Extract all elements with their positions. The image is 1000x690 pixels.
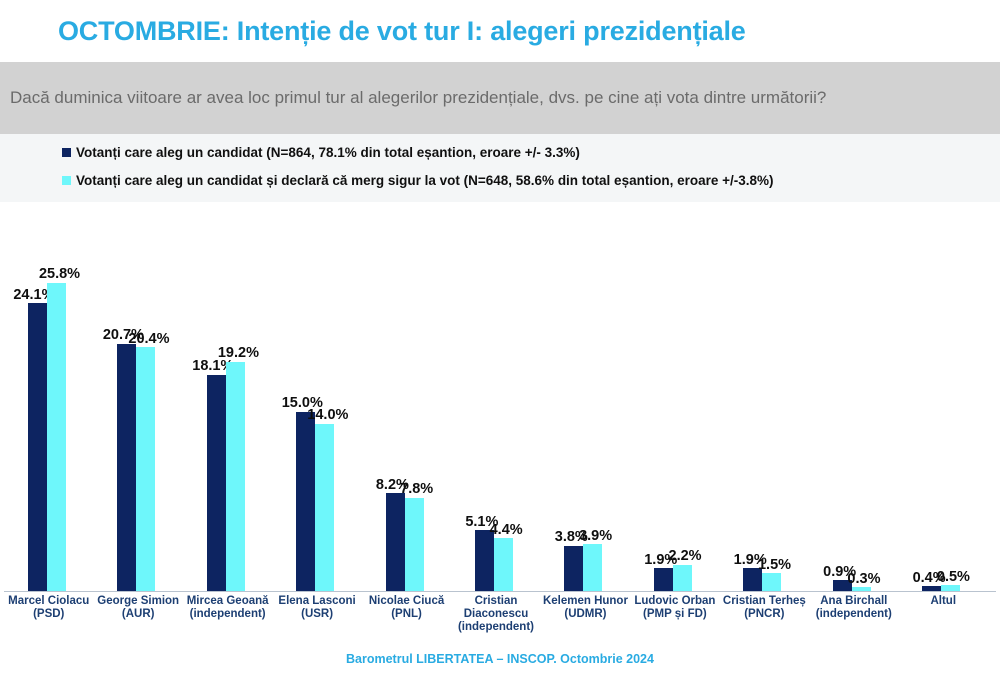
bar[interactable]: [226, 362, 245, 591]
legend-swatch-icon: [62, 176, 71, 185]
chart-legend: Votanți care aleg un candidat (N=864, 78…: [0, 134, 1000, 202]
bar-item[interactable]: 5.1%: [475, 530, 494, 591]
bar-item[interactable]: 2.2%: [673, 565, 692, 591]
bar[interactable]: [673, 565, 692, 591]
bar-item[interactable]: 7.8%: [405, 498, 424, 591]
x-axis-label: Marcel Ciolacu(PSD): [4, 595, 93, 621]
candidate-party: (AUR): [93, 608, 182, 621]
candidate-name: Altul: [930, 595, 956, 607]
bar-item[interactable]: 1.5%: [762, 573, 781, 591]
x-axis-label: Ludovic Orban(PMP și FD): [630, 595, 719, 621]
bar-group: 18.1%19.2%: [207, 362, 245, 591]
chart-footer: Barometrul LIBERTATEA – INSCOP. Octombri…: [0, 648, 1000, 690]
legend-item-series-1: Votanți care aleg un candidat (N=864, 78…: [0, 138, 1000, 166]
candidate-party: (independent): [183, 608, 272, 621]
bar-value-label: 0.5%: [937, 570, 970, 585]
candidate-party: (PNCR): [720, 608, 809, 621]
bars-container: 24.1%25.8%20.7%20.4%18.1%19.2%15.0%14.0%…: [0, 202, 1000, 592]
candidate-party: (PMP și FD): [630, 608, 719, 621]
bar[interactable]: [315, 424, 334, 591]
candidate-party: (independent): [809, 608, 898, 621]
x-axis-label: Altul: [899, 595, 988, 608]
bar[interactable]: [47, 283, 66, 591]
bar[interactable]: [494, 538, 513, 591]
bar[interactable]: [296, 412, 315, 591]
legend-label: Votanți care aleg un candidat (N=864, 78…: [76, 145, 580, 160]
bar-item[interactable]: 15.0%: [296, 412, 315, 591]
candidate-party: (PSD): [4, 608, 93, 621]
candidate-party: (independent): [451, 621, 540, 634]
bar-group: 8.2%7.8%: [386, 493, 424, 591]
bar-value-label: 3.9%: [579, 529, 612, 544]
question-band: Dacă duminica viitoare ar avea loc primu…: [0, 62, 1000, 134]
bar-value-label: 20.4%: [128, 332, 169, 347]
bar-value-label: 1.5%: [758, 558, 791, 573]
x-axis-label: Mircea Geoană(independent): [183, 595, 272, 621]
page-title: OCTOMBRIE: Intenție de vot tur I: aleger…: [58, 16, 746, 47]
bar-group: 0.9%0.3%: [833, 580, 871, 591]
x-axis-labels: Marcel Ciolacu(PSD)George Simion(AUR)Mir…: [0, 592, 1000, 648]
bar-item[interactable]: 4.4%: [494, 538, 513, 591]
bar[interactable]: [654, 568, 673, 591]
bar-item[interactable]: 25.8%: [47, 283, 66, 591]
candidate-name: Marcel Ciolacu: [8, 595, 89, 607]
candidate-name: Mircea Geoană: [187, 595, 269, 607]
bar-item[interactable]: 24.1%: [28, 303, 47, 591]
legend-label: Votanți care aleg un candidat și declară…: [76, 173, 774, 188]
bar-group: 5.1%4.4%: [475, 530, 513, 591]
bar-item[interactable]: 18.1%: [207, 375, 226, 591]
candidate-name: Cristian Diaconescu: [464, 595, 529, 620]
bar-value-label: 4.4%: [490, 523, 523, 538]
candidate-name: Kelemen Hunor: [543, 595, 628, 607]
bar-item[interactable]: 3.8%: [564, 546, 583, 591]
bar[interactable]: [762, 573, 781, 591]
bar-item[interactable]: 8.2%: [386, 493, 405, 591]
bar-group: 1.9%2.2%: [654, 565, 692, 591]
candidate-name: Elena Lasconi: [278, 595, 355, 607]
candidate-party: (PNL): [362, 608, 451, 621]
bar-value-label: 0.3%: [847, 572, 880, 587]
bar-value-label: 19.2%: [218, 346, 259, 361]
bar-value-label: 14.0%: [307, 408, 348, 423]
source-note: Barometrul LIBERTATEA – INSCOP. Octombri…: [346, 652, 654, 666]
bar[interactable]: [117, 344, 136, 591]
bar[interactable]: [583, 544, 602, 591]
bar-item[interactable]: 19.2%: [226, 362, 245, 591]
bar-group: 3.8%3.9%: [564, 544, 602, 591]
question-text: Dacă duminica viitoare ar avea loc primu…: [10, 88, 826, 108]
bar[interactable]: [28, 303, 47, 591]
candidate-name: George Simion: [97, 595, 179, 607]
bar[interactable]: [136, 347, 155, 591]
x-axis-label: Cristian Terheș(PNCR): [720, 595, 809, 621]
bar-group: 24.1%25.8%: [28, 283, 66, 591]
legend-item-series-2: Votanți care aleg un candidat și declară…: [0, 166, 1000, 194]
candidate-name: Nicolae Ciucă: [369, 595, 444, 607]
x-axis-label: Nicolae Ciucă(PNL): [362, 595, 451, 621]
chart-plot-area: 24.1%25.8%20.7%20.4%18.1%19.2%15.0%14.0%…: [0, 202, 1000, 592]
bar-item[interactable]: 20.7%: [117, 344, 136, 591]
bar-group: 15.0%14.0%: [296, 412, 334, 591]
bar-group: 20.7%20.4%: [117, 344, 155, 591]
bar-value-label: 25.8%: [39, 267, 80, 282]
candidate-name: Cristian Terheș: [723, 595, 806, 607]
bar[interactable]: [475, 530, 494, 591]
bar-item[interactable]: 3.9%: [583, 544, 602, 591]
candidate-name: Ana Birchall: [820, 595, 887, 607]
bar-value-label: 2.2%: [669, 549, 702, 564]
legend-swatch-icon: [62, 148, 71, 157]
bar-item[interactable]: 1.9%: [654, 568, 673, 591]
bar[interactable]: [564, 546, 583, 591]
x-axis-label: Elena Lasconi(USR): [272, 595, 361, 621]
candidate-party: (UDMR): [541, 608, 630, 621]
bar[interactable]: [207, 375, 226, 591]
bar-group: 1.9%1.5%: [743, 568, 781, 591]
x-axis-label: Cristian Diaconescu(independent): [451, 595, 540, 634]
bar-item[interactable]: 14.0%: [315, 424, 334, 591]
bar-value-label: 7.8%: [400, 482, 433, 497]
x-axis-label: Kelemen Hunor(UDMR): [541, 595, 630, 621]
bar[interactable]: [405, 498, 424, 591]
bar-item[interactable]: 20.4%: [136, 347, 155, 591]
bar[interactable]: [386, 493, 405, 591]
candidate-name: Ludovic Orban: [634, 595, 715, 607]
x-axis-label: Ana Birchall(independent): [809, 595, 898, 621]
candidate-party: (USR): [272, 608, 361, 621]
x-axis-label: George Simion(AUR): [93, 595, 182, 621]
title-bar: OCTOMBRIE: Intenție de vot tur I: aleger…: [0, 0, 1000, 62]
